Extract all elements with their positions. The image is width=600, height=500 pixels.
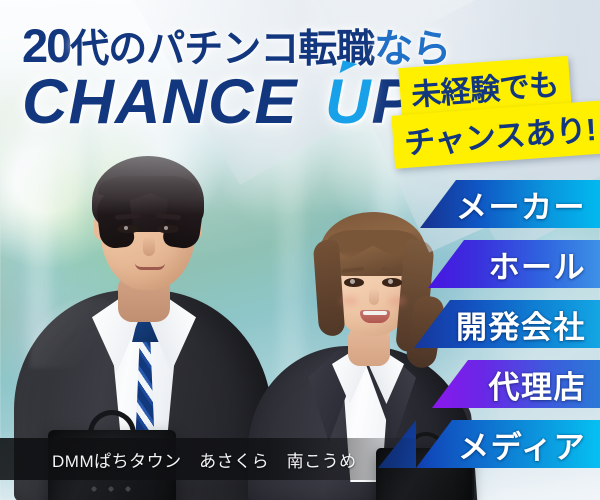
woman-mouth bbox=[360, 310, 390, 323]
category-label-hall: ホール bbox=[489, 242, 587, 287]
category-label-agency: 代理店 bbox=[489, 362, 587, 407]
man-mouth bbox=[135, 263, 165, 270]
advertisement-banner: 20代のパチンコ転職なら CHANCE UP 未経験でも チャンスあり! メーカ… bbox=[0, 0, 600, 500]
caption-bar: DMMぱちタウン あさくら 南こうめ bbox=[0, 438, 430, 480]
woman-cheek-left bbox=[340, 296, 358, 306]
man-briefcase-studs bbox=[88, 484, 134, 494]
category-label-media: メディア bbox=[458, 422, 586, 467]
man-eye-right bbox=[157, 225, 179, 233]
category-label-development-company: 開発会社 bbox=[456, 302, 586, 347]
woman-nose bbox=[369, 288, 379, 305]
caption-credits-text: DMMぱちタウン あさくら 南こうめ bbox=[0, 447, 357, 472]
headline-up-u-letter: U bbox=[325, 66, 372, 138]
woman-eye-left bbox=[344, 278, 364, 287]
headline-line-1-main: 代のパチンコ転職 bbox=[70, 28, 374, 71]
headline-line-2: CHANCE UP bbox=[22, 66, 415, 138]
headline-chance-word: CHANCE bbox=[22, 67, 298, 137]
category-label-maker: メーカー bbox=[456, 182, 586, 227]
man-eye-left bbox=[117, 225, 139, 233]
man-nose bbox=[143, 236, 155, 256]
headline-number: 20 bbox=[22, 19, 70, 72]
woman-cheek-right bbox=[388, 296, 406, 306]
woman-eye-right bbox=[382, 278, 402, 287]
